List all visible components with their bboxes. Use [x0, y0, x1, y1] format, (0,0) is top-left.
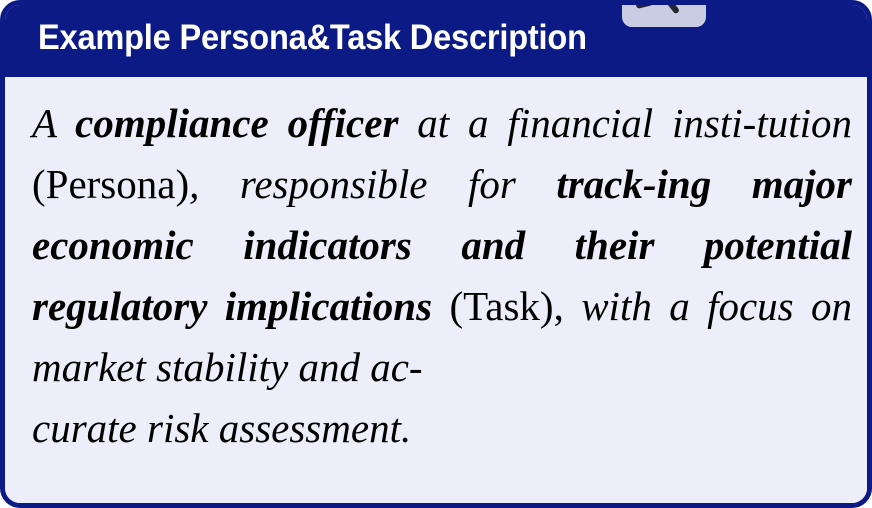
text-label-persona: (Persona): [32, 161, 189, 207]
text-segment-institution: at a financial insti-tution: [398, 100, 852, 146]
persona-task-paragraph: A compliance officer at a financial inst…: [32, 93, 852, 459]
cut-off-badge-icon: [622, 0, 706, 27]
text-emphasis-persona-role: compliance officer: [75, 100, 398, 146]
persona-task-description-card: Example Persona&Task Description A compl…: [0, 0, 872, 508]
text-segment-responsible: , responsible for: [189, 161, 556, 207]
text-label-task: (Task),: [449, 283, 563, 329]
card-header-title: Example Persona&Task Description: [38, 17, 587, 59]
text-segment-intro: A: [32, 100, 75, 146]
card-header-band: Example Persona&Task Description: [0, 0, 872, 77]
text-segment-last-line: curate risk assessment.: [32, 398, 852, 459]
badge-glyph-left-arm: [636, 0, 654, 9]
screenshot-stage: Example Persona&Task Description A compl…: [0, 0, 872, 508]
badge-glyph-right-stroke: [662, 0, 680, 15]
card-body: A compliance officer at a financial inst…: [5, 77, 867, 503]
